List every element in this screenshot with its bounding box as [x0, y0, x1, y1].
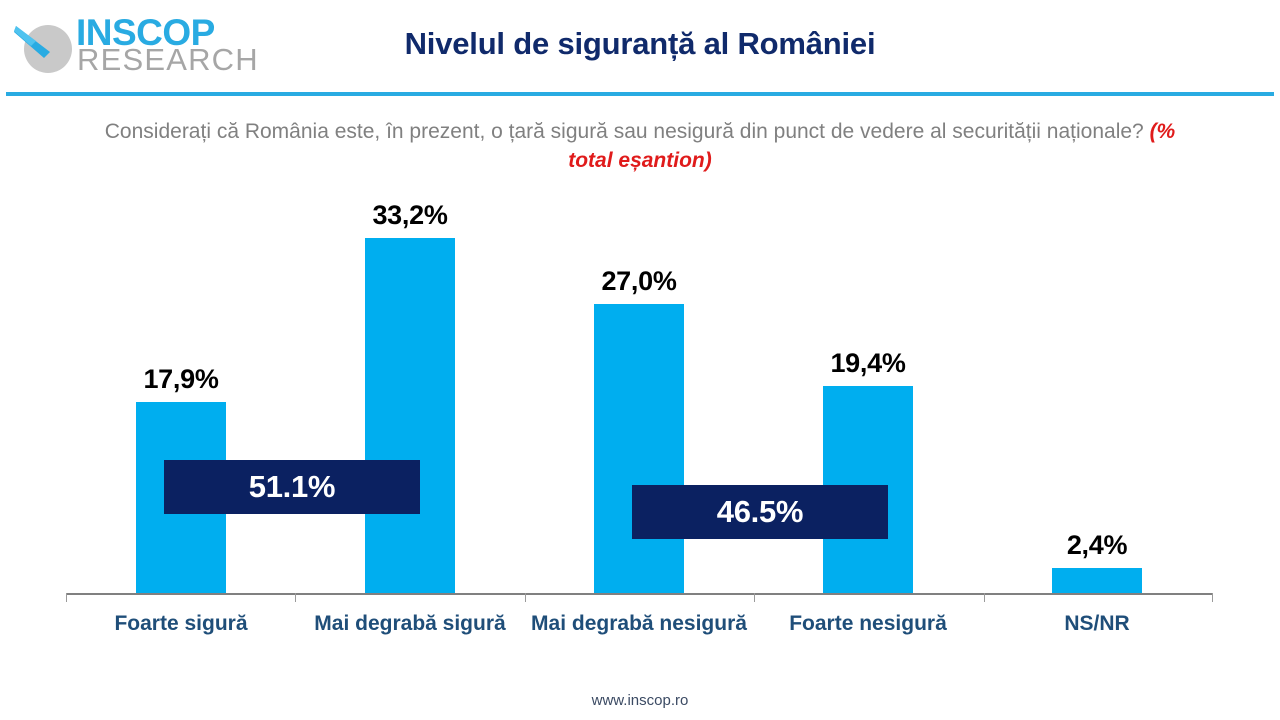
bar-mai-degraba-nesigura: [594, 304, 684, 594]
value-label-mai-degraba-sigura: 33,2%: [320, 200, 500, 231]
value-label-foarte-nesigura: 19,4%: [778, 348, 958, 379]
bar-chart: 17,9% 33,2% 27,0% 19,4% 2,4% Foarte sigu…: [0, 0, 1280, 720]
footer-website: www.inscop.ro: [0, 692, 1280, 709]
x-axis-tick-3: [754, 593, 755, 602]
x-axis-tick-0: [66, 593, 67, 602]
value-label-mai-degraba-nesigura: 27,0%: [549, 266, 729, 297]
bar-mai-degraba-sigura: [365, 238, 455, 594]
category-label-mai-degraba-sigura: Mai degrabă sigură: [300, 610, 520, 637]
category-label-mai-degraba-nesigura: Mai degrabă nesigură: [529, 610, 749, 637]
x-axis-tick-1: [295, 593, 296, 602]
x-axis-tick-2: [525, 593, 526, 602]
category-label-foarte-nesigura: Foarte nesigură: [758, 610, 978, 637]
summary-value-nesigura: 46.5%: [717, 494, 803, 530]
x-axis-tick-4: [984, 593, 985, 602]
category-label-ns-nr: NS/NR: [987, 610, 1207, 637]
bar-ns-nr: [1052, 568, 1142, 594]
x-axis-tick-5: [1212, 593, 1213, 602]
summary-value-sigura: 51.1%: [249, 469, 335, 505]
x-axis-line: [66, 593, 1212, 595]
value-label-foarte-sigura: 17,9%: [91, 364, 271, 395]
value-label-ns-nr: 2,4%: [1007, 530, 1187, 561]
category-label-foarte-sigura: Foarte sigură: [71, 610, 291, 637]
summary-box-nesigura: 46.5%: [632, 485, 888, 539]
summary-box-sigura: 51.1%: [164, 460, 420, 514]
